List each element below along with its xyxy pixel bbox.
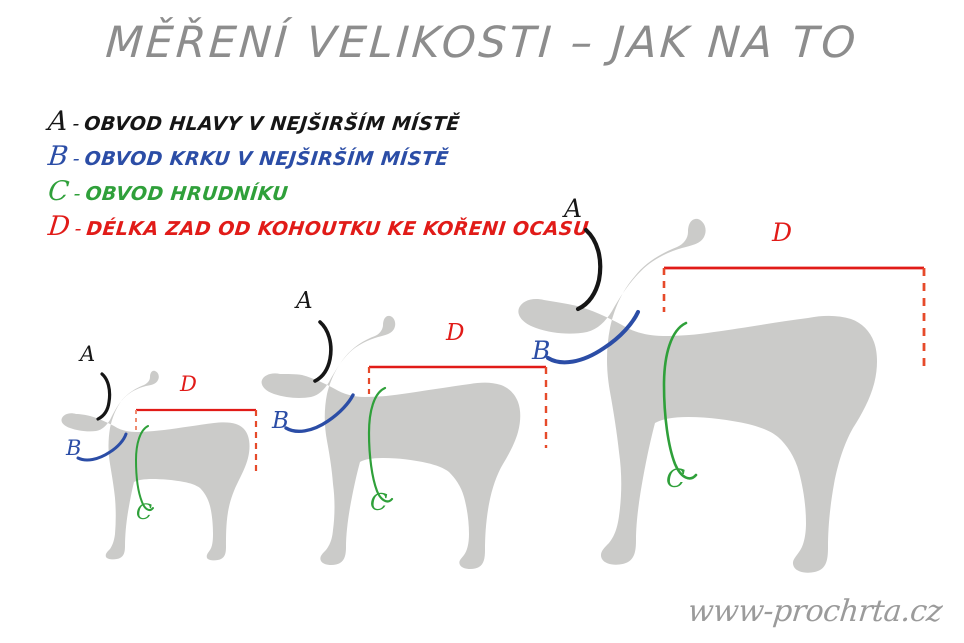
marker-label-a-large: A: [564, 196, 582, 221]
legend-key-d: D: [47, 211, 75, 242]
marker-label-b-small: B: [66, 438, 81, 459]
marker-a-arc-small: [98, 374, 110, 419]
large-dog-silhouette: [518, 219, 877, 573]
legend-text-b: OBVOD KRKU V NEJŠIRŠÍM MÍSTĚ: [83, 148, 449, 170]
legend-item-a: A - OBVOD HLAVY V NEJŠIRŠÍM MÍSTĚ: [46, 106, 570, 141]
legend-text-d: DÉLKA ZAD OD KOHOUTKU KE KOŘENI OCASU: [85, 218, 590, 240]
small-dog: A B C D: [58, 352, 268, 567]
watermark: www-prochrta.cz: [686, 594, 944, 629]
marker-label-c-small: C: [136, 502, 152, 523]
small-dog-silhouette: [61, 371, 249, 561]
marker-label-b-medium: B: [272, 410, 289, 433]
marker-label-a-medium: A: [296, 290, 313, 313]
marker-a-arc-medium: [315, 322, 331, 381]
small-dog-illustration: [58, 352, 268, 567]
marker-label-d-medium: D: [446, 322, 464, 345]
page-title: MĚŘENÍ VELIKOSTI – JAK NA TO: [0, 18, 964, 68]
marker-label-d-large: D: [772, 220, 792, 245]
legend-key-b: B: [47, 141, 73, 172]
marker-label-d-small: D: [180, 374, 197, 395]
large-dog-illustration: [516, 200, 946, 568]
marker-label-c-medium: C: [370, 492, 388, 515]
marker-label-a-small: A: [80, 344, 95, 365]
legend-item-b: B - OBVOD KRKU V NEJŠIRŠÍM MÍSTĚ: [46, 141, 570, 176]
legend-key-c: C: [47, 176, 74, 207]
marker-label-c-large: C: [666, 466, 685, 491]
legend-text-a: OBVOD HLAVY V NEJŠIRŠÍM MÍSTĚ: [83, 113, 461, 135]
legend: A - OBVOD HLAVY V NEJŠIRŠÍM MÍSTĚ B - OB…: [48, 106, 568, 246]
legend-text-c: OBVOD HRUDNÍKU: [84, 183, 289, 205]
medium-dog-silhouette: [262, 316, 521, 569]
large-dog: A B C D: [516, 200, 946, 568]
marker-label-b-large: B: [532, 338, 550, 363]
infographic-canvas: MĚŘENÍ VELIKOSTI – JAK NA TO A - OBVOD H…: [0, 0, 964, 643]
legend-item-d: D - DÉLKA ZAD OD KOHOUTKU KE KOŘENI OCAS…: [46, 211, 570, 246]
legend-item-c: C - OBVOD HRUDNÍKU: [46, 176, 570, 211]
marker-a-arc-large: [578, 230, 600, 309]
